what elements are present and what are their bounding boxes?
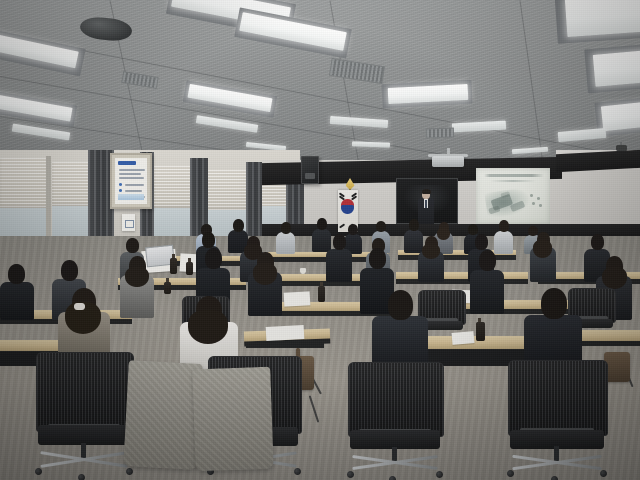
- presenter-hair: [422, 189, 431, 194]
- water-bottle: [318, 286, 325, 302]
- attendee: [530, 232, 556, 282]
- window-blind: [0, 158, 48, 208]
- attendee-body: [372, 316, 428, 368]
- attendee-head: [333, 234, 346, 250]
- ceiling-light-panel: [601, 102, 640, 132]
- slide-callout-dots: [528, 192, 544, 208]
- mesh-task-chair: [508, 360, 606, 480]
- window-blind: [52, 162, 92, 206]
- water-bottle: [170, 258, 177, 274]
- attendee-head: [376, 221, 386, 232]
- chair-caster: [551, 476, 558, 480]
- attendee-head: [388, 290, 413, 320]
- attendee-head: [126, 238, 139, 253]
- notice-content: [115, 158, 147, 204]
- handout-papers: [266, 325, 305, 341]
- attendee-hair-clip: [74, 303, 85, 310]
- attendee: [524, 288, 582, 368]
- ceiling-light-panel: [593, 49, 640, 87]
- attendee: [58, 288, 110, 358]
- attendee: [418, 236, 444, 282]
- flag-taeguk-blue: [341, 205, 354, 214]
- water-bottle: [476, 322, 485, 341]
- photo-scene: Seminar / training room presentation Cor…: [0, 0, 640, 480]
- attendee-body: [276, 232, 295, 254]
- attendee-head: [369, 248, 386, 269]
- presenter-tie: [425, 200, 427, 208]
- attendee-hair: [602, 267, 627, 289]
- attendee: [248, 252, 282, 316]
- slide-site-diagram: [484, 187, 531, 219]
- air-supply-vent: [426, 128, 454, 139]
- attendee-head: [317, 218, 327, 230]
- window-mullion: [46, 156, 51, 242]
- handout-papers: [284, 291, 311, 306]
- attendee-head: [202, 232, 215, 248]
- attendee-hair: [422, 244, 440, 259]
- attendee-head: [499, 220, 509, 232]
- water-bottle: [186, 262, 193, 275]
- notice-image: [118, 194, 144, 200]
- attendee-head: [541, 288, 567, 319]
- draped-coat: [123, 360, 202, 470]
- attendee-head: [205, 248, 222, 269]
- draped-coat: [192, 367, 274, 472]
- chair-caster: [507, 470, 514, 477]
- attendee-head: [479, 250, 496, 271]
- attendee-head: [475, 234, 488, 250]
- chair-caster: [126, 468, 133, 475]
- attendee-hair: [253, 263, 277, 285]
- chair-backrest: [508, 360, 608, 436]
- ceiling-light-panel: [565, 0, 640, 37]
- attendee: [276, 222, 295, 254]
- chair-caster: [436, 471, 443, 478]
- mesh-task-chair: [36, 352, 132, 478]
- water-bottle: [164, 282, 171, 294]
- chair-caster: [35, 468, 42, 475]
- attendee: [494, 220, 513, 254]
- attendee-head: [233, 219, 244, 232]
- paper-cup: [300, 268, 306, 274]
- attendee: [120, 256, 154, 318]
- attendee: [0, 264, 34, 320]
- ceiling-camera: [616, 142, 628, 152]
- attendee-body: [0, 282, 34, 320]
- ceiling-projector: [432, 156, 464, 167]
- posted-paper: [122, 214, 135, 231]
- chair-caster: [389, 476, 396, 480]
- chair-caster: [294, 468, 301, 475]
- attendee: [326, 234, 352, 282]
- training-table: [396, 272, 528, 280]
- attendee-body: [326, 249, 352, 282]
- attendee-hair: [188, 310, 228, 344]
- chair-caster: [600, 470, 607, 477]
- attendee-body: [470, 270, 504, 314]
- notice-heading-bar: [118, 161, 136, 165]
- attendee-head: [61, 260, 78, 281]
- mesh-task-chair: [348, 362, 442, 480]
- slide-title-text: [484, 174, 544, 177]
- attendee: [470, 250, 504, 314]
- chair-caster: [347, 471, 354, 478]
- attendee-head: [281, 222, 291, 234]
- attendee-head: [591, 234, 604, 250]
- wall-mounted-speaker: [301, 156, 319, 184]
- chair-caster: [78, 474, 85, 480]
- slide-subtitle-text: [490, 180, 536, 182]
- attendee-head: [8, 264, 25, 284]
- attendee: [372, 290, 428, 368]
- chair-backrest: [36, 352, 134, 432]
- attendee-head: [409, 219, 419, 231]
- projection-screen: [476, 168, 550, 224]
- handout-papers: [452, 331, 475, 345]
- chair-backrest: [348, 362, 444, 437]
- attendee-hair: [125, 267, 149, 287]
- attendee-hair: [533, 240, 552, 258]
- framed-notice: [110, 153, 152, 209]
